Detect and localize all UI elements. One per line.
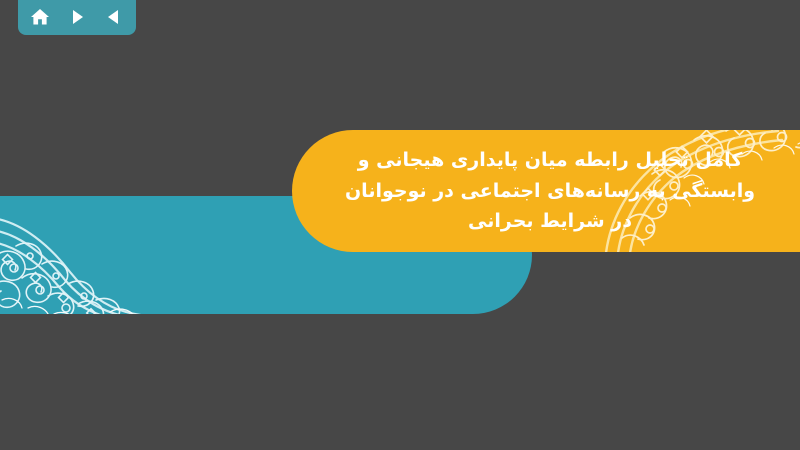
orange-banner: [292, 130, 800, 252]
slide-viewer: کامل تحلیل رابطه میان پایداری هیجانی و و…: [0, 0, 800, 450]
triangle-left-icon: [104, 7, 124, 27]
previous-slide-button[interactable]: [99, 2, 129, 32]
home-icon: [29, 6, 51, 28]
arabesque-ornament-orange: [592, 130, 800, 252]
triangle-right-icon: [67, 7, 87, 27]
home-slide-button[interactable]: [25, 2, 55, 32]
slide-navigation-toolbar: [18, 0, 136, 35]
next-slide-button[interactable]: [62, 2, 92, 32]
arabesque-ornament-teal: [0, 200, 242, 314]
